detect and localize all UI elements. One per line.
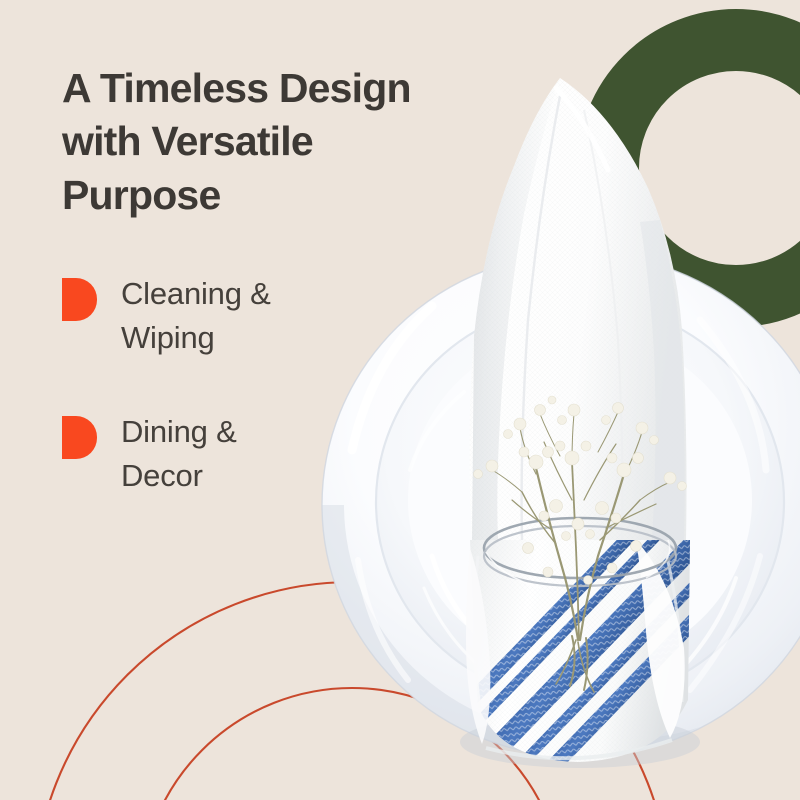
feature-label: Dining & Decor [121, 410, 237, 498]
promo-canvas: A Timeless Design with Versatile Purpose… [0, 0, 800, 800]
d-shape-bullet-icon [62, 278, 97, 321]
page-title: A Timeless Design with Versatile Purpose [62, 62, 482, 222]
list-item: Dining & Decor [62, 410, 362, 498]
list-item: Cleaning & Wiping [62, 272, 362, 360]
feature-list: Cleaning & Wiping Dining & Decor [62, 272, 362, 548]
feature-label: Cleaning & Wiping [121, 272, 271, 360]
d-shape-bullet-icon [62, 416, 97, 459]
